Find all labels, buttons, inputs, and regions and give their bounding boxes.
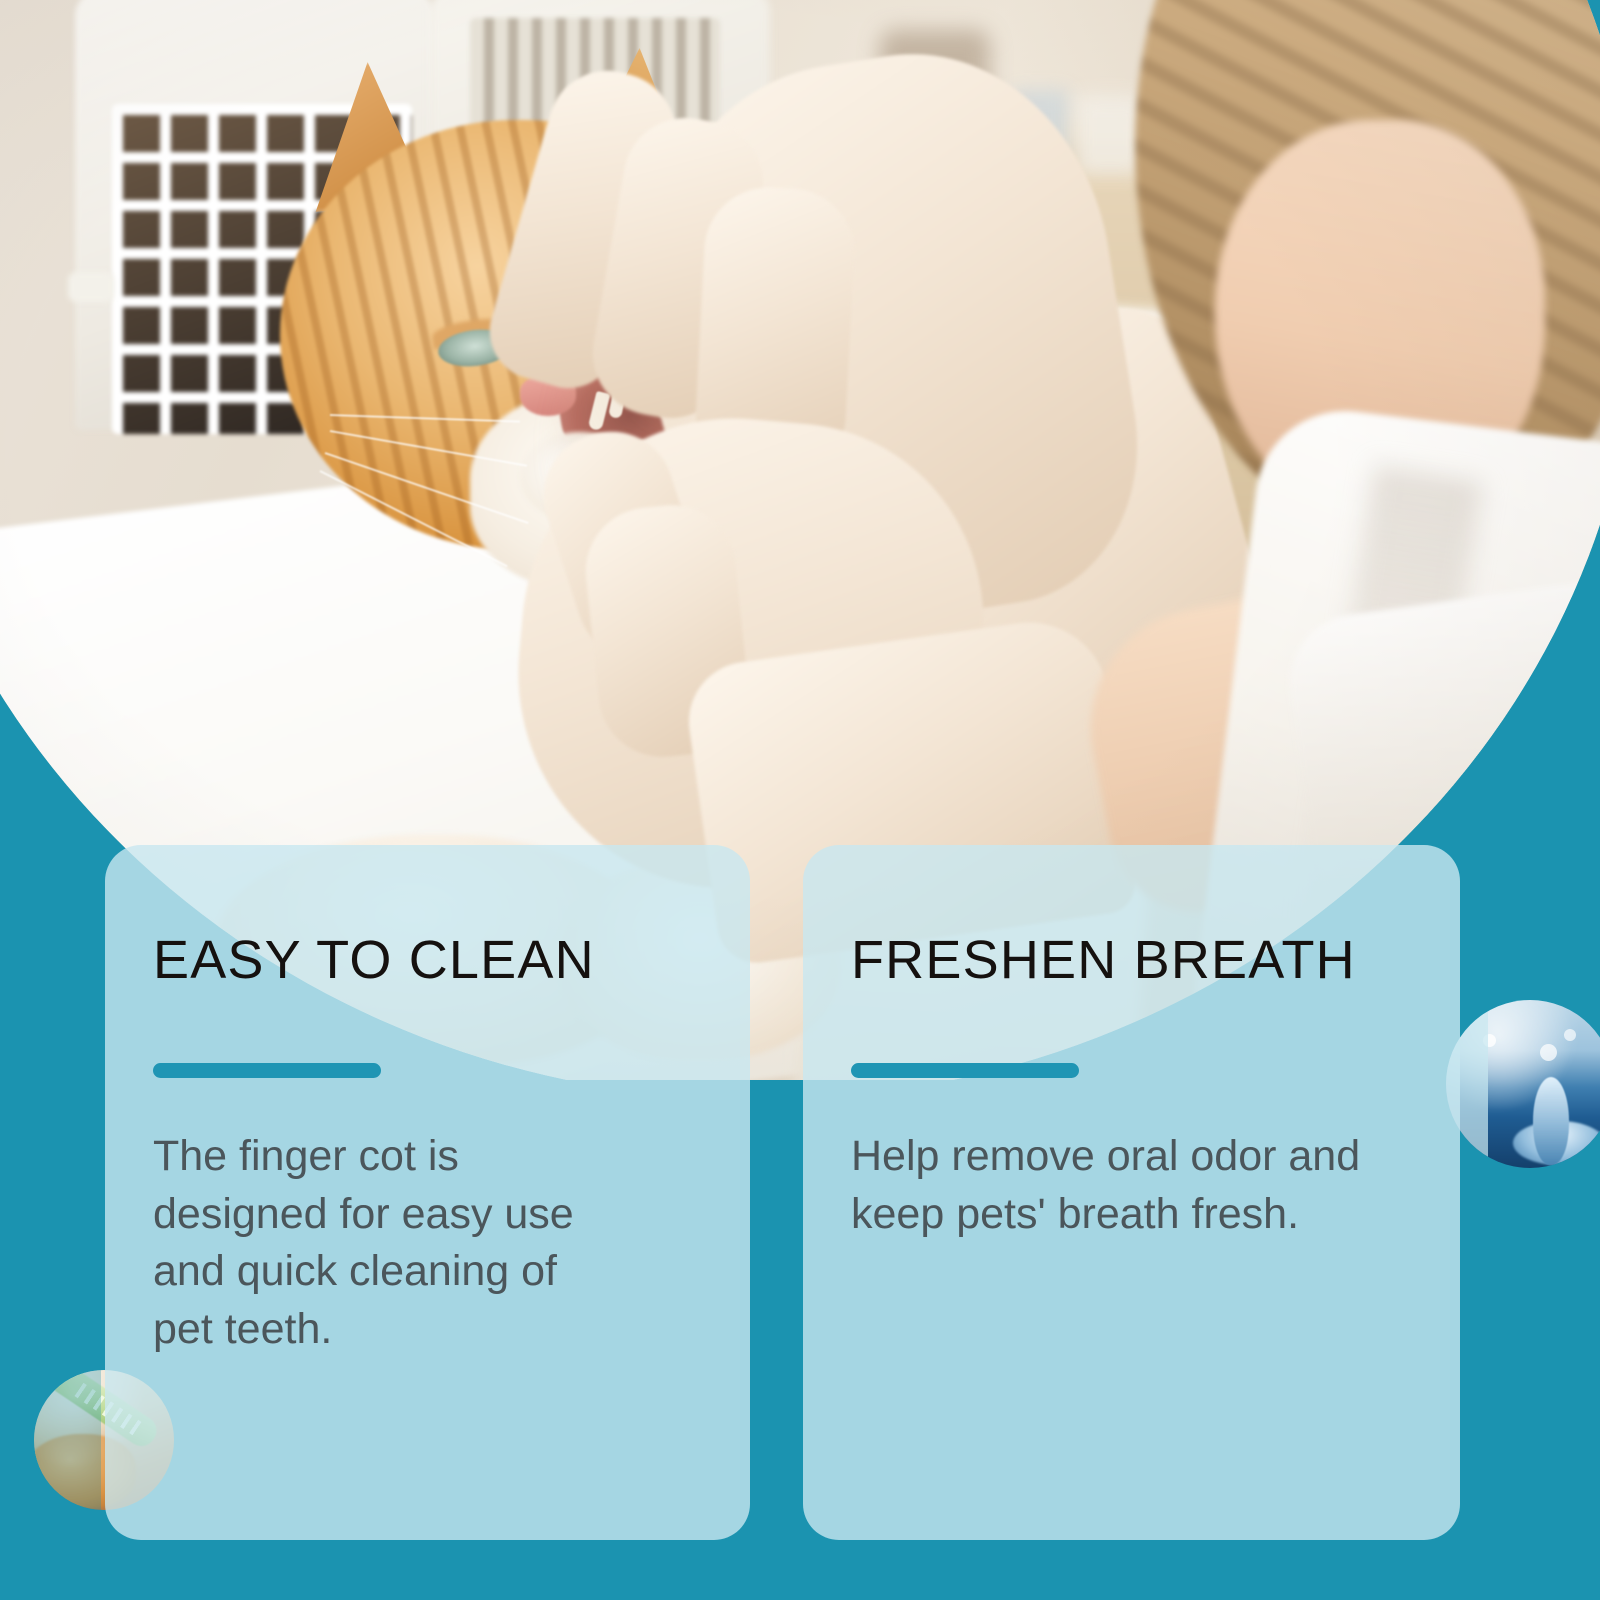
feature-description: Help remove oral odor and keep pets' bre… — [851, 1128, 1371, 1243]
feature-card-freshen-breath: FRESHEN BREATH Help remove oral odor and… — [803, 845, 1460, 1540]
accent-bar — [153, 1063, 381, 1078]
feature-title: EASY TO CLEAN — [153, 933, 702, 988]
feature-description: The finger cot is designed for easy use … — [153, 1128, 623, 1358]
accent-bar — [851, 1063, 1079, 1078]
feature-title: FRESHEN BREATH — [851, 933, 1412, 988]
bubble-tint-overlay — [34, 1370, 101, 1510]
infographic-canvas: EASY TO CLEAN The finger cot is designed… — [0, 0, 1600, 1600]
water-splash-bubble — [1446, 1000, 1600, 1168]
feature-card-easy-to-clean: EASY TO CLEAN The finger cot is designed… — [105, 845, 750, 1540]
